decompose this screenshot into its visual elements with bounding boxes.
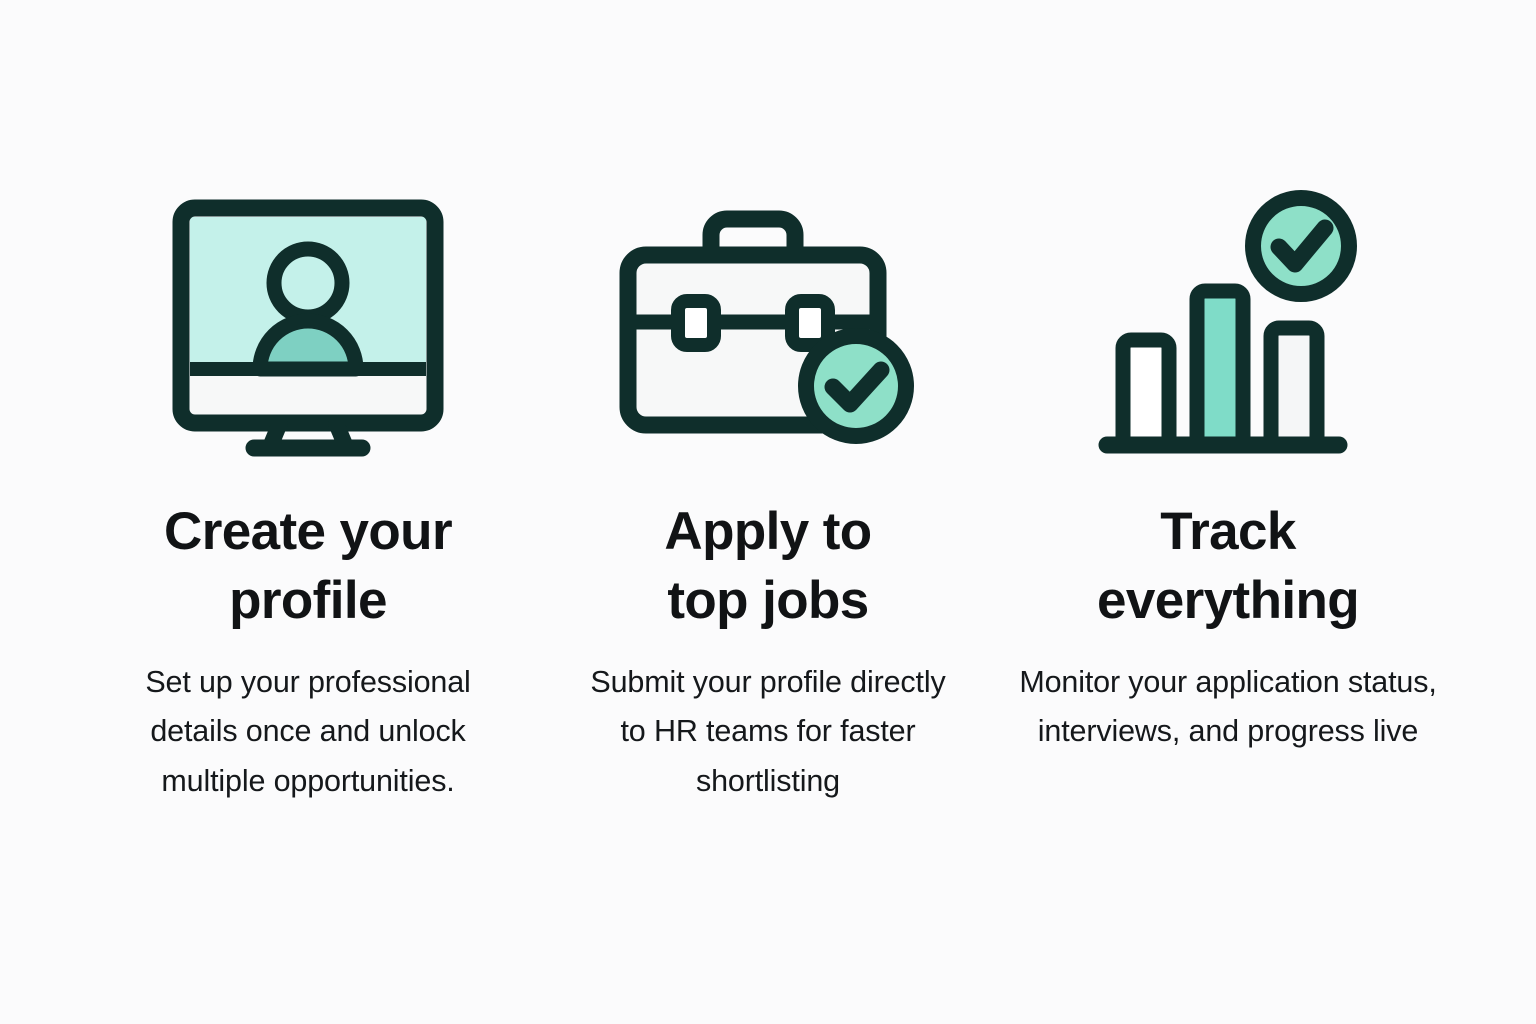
briefcase-check-svg	[615, 201, 921, 459]
step-description: Submit your profile directly to HR teams…	[584, 658, 952, 806]
step-card-apply-jobs: Apply to top jobs Submit your profile di…	[538, 180, 998, 806]
how-it-works-steps: Create your profile Set up your professi…	[0, 0, 1536, 1024]
step-card-create-profile: Create your profile Set up your professi…	[78, 180, 538, 806]
step-title: Apply to top jobs	[628, 498, 908, 636]
step-title: Track everything	[1078, 498, 1378, 636]
step-title: Create your profile	[143, 498, 473, 636]
briefcase-check-icon	[598, 180, 938, 480]
bar-chart-check-icon	[1058, 180, 1398, 480]
step-description: Set up your professional details once an…	[98, 658, 518, 806]
monitor-profile-icon	[138, 180, 478, 480]
monitor-profile-svg	[172, 199, 444, 461]
bar-chart-check-svg	[1093, 195, 1363, 465]
step-description: Monitor your application status, intervi…	[1013, 658, 1443, 757]
step-card-track-everything: Track everything Monitor your applicatio…	[998, 180, 1458, 757]
